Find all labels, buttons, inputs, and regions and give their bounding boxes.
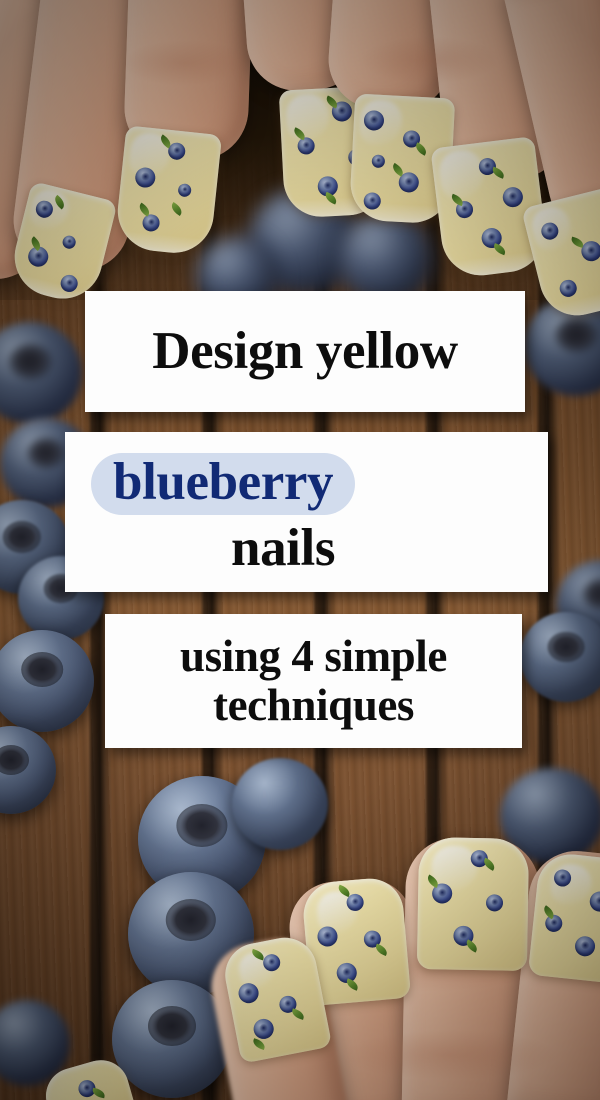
headline-line-using-4-simple: using 4 simple xyxy=(180,633,447,680)
headline-line-techniques: techniques xyxy=(213,682,414,729)
headline-line-nails: nails xyxy=(231,521,335,576)
headline-card-2: blueberry nails xyxy=(65,432,548,592)
pin-graphic: Design yellow blueberry nails using 4 si… xyxy=(0,0,600,1100)
headline-card-3: using 4 simple techniques xyxy=(105,614,522,748)
headline-card-1: Design yellow xyxy=(85,291,525,412)
headline-line-blueberry-highlighted: blueberry xyxy=(91,453,355,515)
headline-line-design-yellow: Design yellow xyxy=(152,324,457,379)
